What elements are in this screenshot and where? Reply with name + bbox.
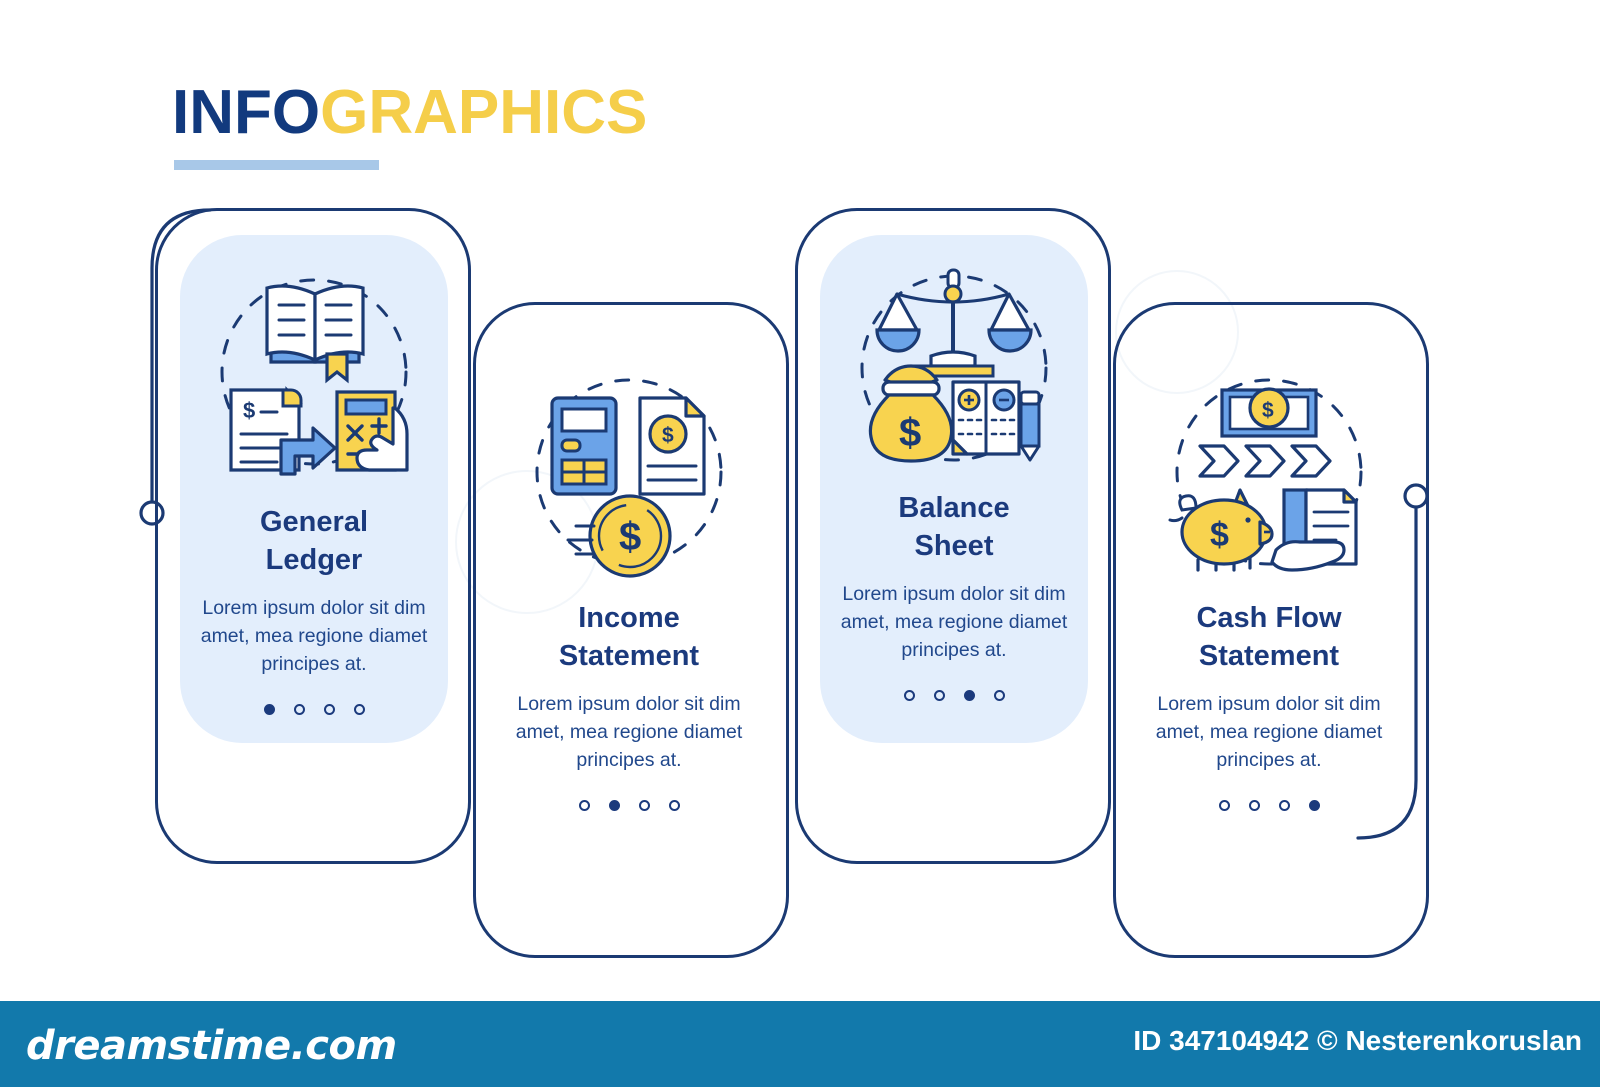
step-indicator[interactable] [904,690,1005,701]
step-dot-4[interactable] [669,800,680,811]
step-dot-2[interactable] [294,704,305,715]
card-title: Balance Sheet [898,489,1009,566]
step-indicator[interactable] [264,704,365,715]
scales-money-bag-ledger-icon: $ [849,258,1059,473]
svg-text:$: $ [619,515,641,559]
card-description: Lorem ipsum dolor sit dim amet, mea regi… [201,594,428,678]
svg-text:$: $ [662,424,674,447]
step-dot-4[interactable] [1309,800,1320,811]
step-indicator[interactable] [1219,800,1320,811]
image-credit: ID 347104942 © Nesterenkoruslan [1133,1025,1582,1057]
step-indicator[interactable] [579,800,680,811]
watermark-footer: dreamstime.com ID 347104942 © Nesterenko… [0,1001,1600,1087]
banknote-piggy-bank-hand-document-icon: $ [1164,368,1374,583]
title-graphics-part: GRAPHICS [320,78,647,147]
card-title: General Ledger [260,503,368,580]
card-title: Cash Flow Statement [1196,599,1341,676]
dreamstime-logo-text: dreamstime.com [26,1023,397,1069]
step-dot-3[interactable] [639,800,650,811]
step-dot-3[interactable] [1279,800,1290,811]
step-dot-1[interactable] [264,704,275,715]
step-dot-2[interactable] [609,800,620,811]
svg-text:$: $ [899,411,921,455]
title-info-part: INFO [172,78,320,147]
step-dot-2[interactable] [934,690,945,701]
open-book-document-calculator-icon: $ [209,272,419,487]
step-dot-4[interactable] [354,704,365,715]
step-dot-3[interactable] [324,704,335,715]
step-dot-3[interactable] [964,690,975,701]
svg-text:$: $ [1210,516,1229,554]
infographic-stage: INFOGRAPHICS [0,0,1600,1087]
step-dot-1[interactable] [579,800,590,811]
card-description: Lorem ipsum dolor sit dim amet, mea regi… [1156,690,1383,774]
step-dot-2[interactable] [1249,800,1260,811]
dreamstime-logo: dreamstime.com [26,1023,397,1069]
svg-text:$: $ [1262,399,1274,422]
calculator-invoice-coin-icon: $ $ [524,368,734,583]
step-dot-1[interactable] [1219,800,1230,811]
card-title: Income Statement [559,599,699,676]
page-title: INFOGRAPHICS [172,82,647,144]
title-underline-bar [174,160,379,170]
step-dot-1[interactable] [904,690,915,701]
card-description: Lorem ipsum dolor sit dim amet, mea regi… [841,580,1068,664]
step-dot-4[interactable] [994,690,1005,701]
card-description: Lorem ipsum dolor sit dim amet, mea regi… [516,690,743,774]
svg-text:$: $ [243,398,255,423]
